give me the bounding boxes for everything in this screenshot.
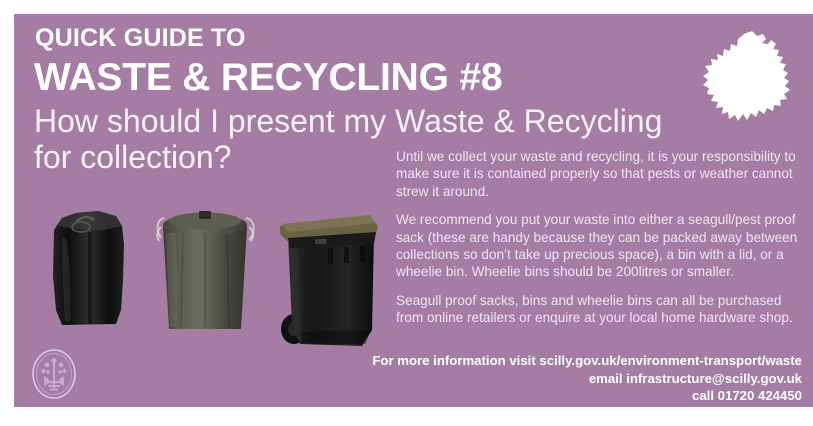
page-subtitle-line-1: How should I present my Waste & Recyclin… bbox=[34, 104, 714, 140]
metal-dustbin-with-lid-image bbox=[149, 199, 261, 331]
contact-website[interactable]: For more information visit scilly.gov.uk… bbox=[322, 352, 802, 370]
body-copy: Until we collect your waste and recyclin… bbox=[396, 148, 802, 338]
page-kicker: QUICK GUIDE TO bbox=[35, 26, 246, 51]
contact-email[interactable]: email infrastructure@scilly.gov.uk bbox=[322, 370, 802, 388]
body-paragraph-1: Until we collect your waste and recyclin… bbox=[396, 148, 802, 200]
poster-panel: QUICK GUIDE TO WASTE & RECYCLING #8 How … bbox=[14, 14, 813, 407]
bin-photos bbox=[14, 184, 414, 344]
seagull-proof-sack-image bbox=[42, 206, 134, 328]
page-title: WASTE & RECYCLING #8 bbox=[34, 58, 502, 97]
body-paragraph-3: Seagull proof sacks, bins and wheelie bi… bbox=[396, 292, 802, 327]
contact-phone[interactable]: call 01720 424450 bbox=[322, 387, 802, 405]
island-silhouette-icon bbox=[700, 28, 800, 132]
wheelie-bin-image bbox=[266, 204, 386, 352]
council-crest-icon bbox=[30, 348, 78, 400]
body-paragraph-2: We recommend you put your waste into eit… bbox=[396, 211, 802, 281]
contact-footer: For more information visit scilly.gov.uk… bbox=[322, 352, 802, 405]
